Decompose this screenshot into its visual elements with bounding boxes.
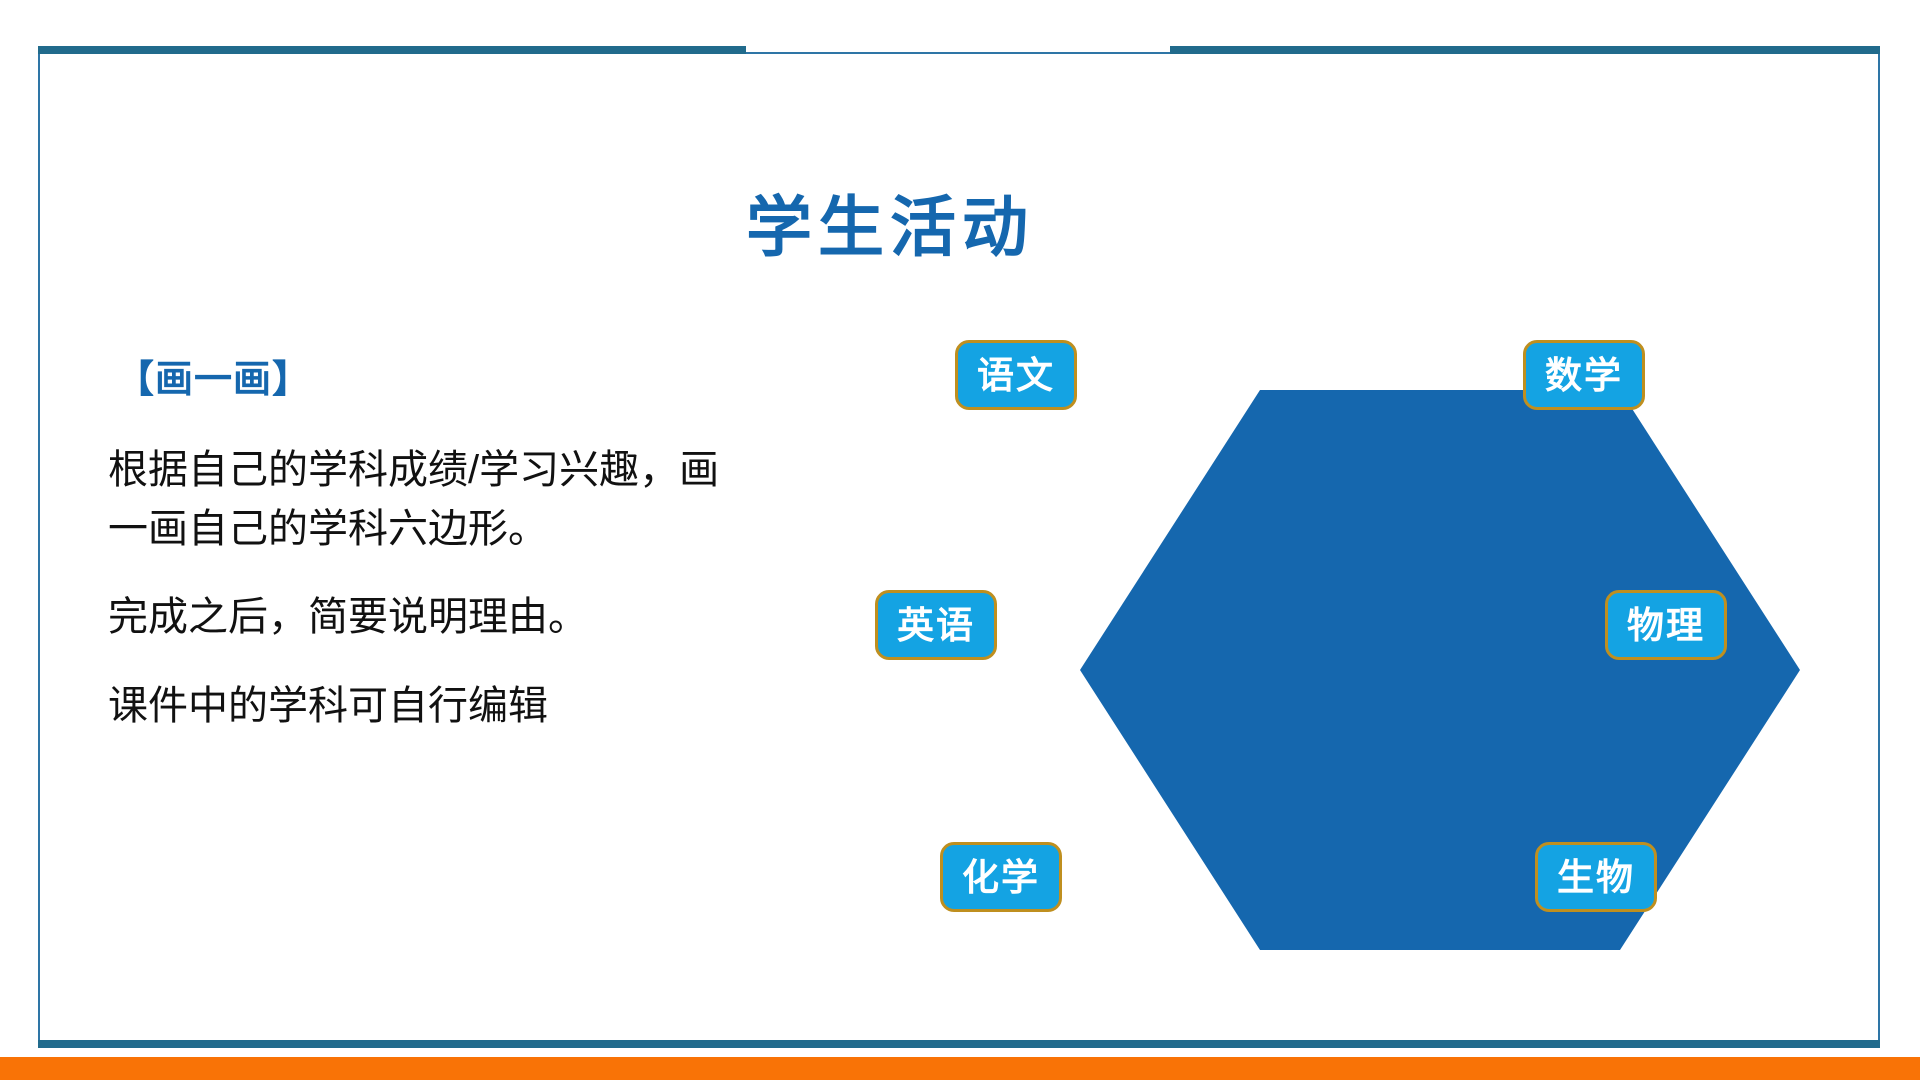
left-text-panel: 【画一画】 根据自己的学科成绩/学习兴趣，画 一画自己的学科六边形。 完成之后，…: [108, 360, 808, 743]
hexagon-node-yuwen-label: 语文: [977, 357, 1055, 394]
instruction-line-2: 一画自己的学科六边形。: [108, 507, 808, 552]
hexagon-shape: [1080, 390, 1800, 950]
subject-hexagon-diagram: 语文 数学 英语 物理 化学 生物: [940, 340, 1880, 980]
instruction-line-1: 根据自己的学科成绩/学习兴趣，画: [108, 448, 808, 493]
activity-subheading: 【画一画】: [116, 360, 808, 402]
hexagon-node-shuxue[interactable]: 数学: [1523, 340, 1645, 410]
hexagon-node-yingyu-label: 英语: [897, 607, 975, 644]
frame-top-rule-right: [1170, 46, 1880, 54]
hexagon-node-huaxue[interactable]: 化学: [940, 842, 1062, 912]
hexagon-node-yuwen[interactable]: 语文: [955, 340, 1077, 410]
hexagon-node-shengwu[interactable]: 生物: [1535, 842, 1657, 912]
hexagon-node-wuli[interactable]: 物理: [1605, 590, 1727, 660]
hexagon-node-yingyu[interactable]: 英语: [875, 590, 997, 660]
hexagon-node-huaxue-label: 化学: [962, 859, 1040, 896]
footer-orange-band: [0, 1057, 1920, 1080]
instruction-line-3: 完成之后，简要说明理由。: [108, 595, 808, 640]
slide-canvas: 学生活动 【画一画】 根据自己的学科成绩/学习兴趣，画 一画自己的学科六边形。 …: [0, 0, 1920, 1080]
hexagon-icon: [1080, 390, 1800, 950]
hexagon-node-wuli-label: 物理: [1627, 607, 1705, 644]
frame-bottom-rule: [38, 1040, 1880, 1048]
hexagon-node-shuxue-label: 数学: [1545, 357, 1623, 394]
instruction-line-4: 课件中的学科可自行编辑: [108, 684, 808, 729]
frame-top-rule-left: [38, 46, 746, 54]
page-title: 学生活动: [0, 193, 1780, 262]
hexagon-node-shengwu-label: 生物: [1557, 859, 1635, 896]
